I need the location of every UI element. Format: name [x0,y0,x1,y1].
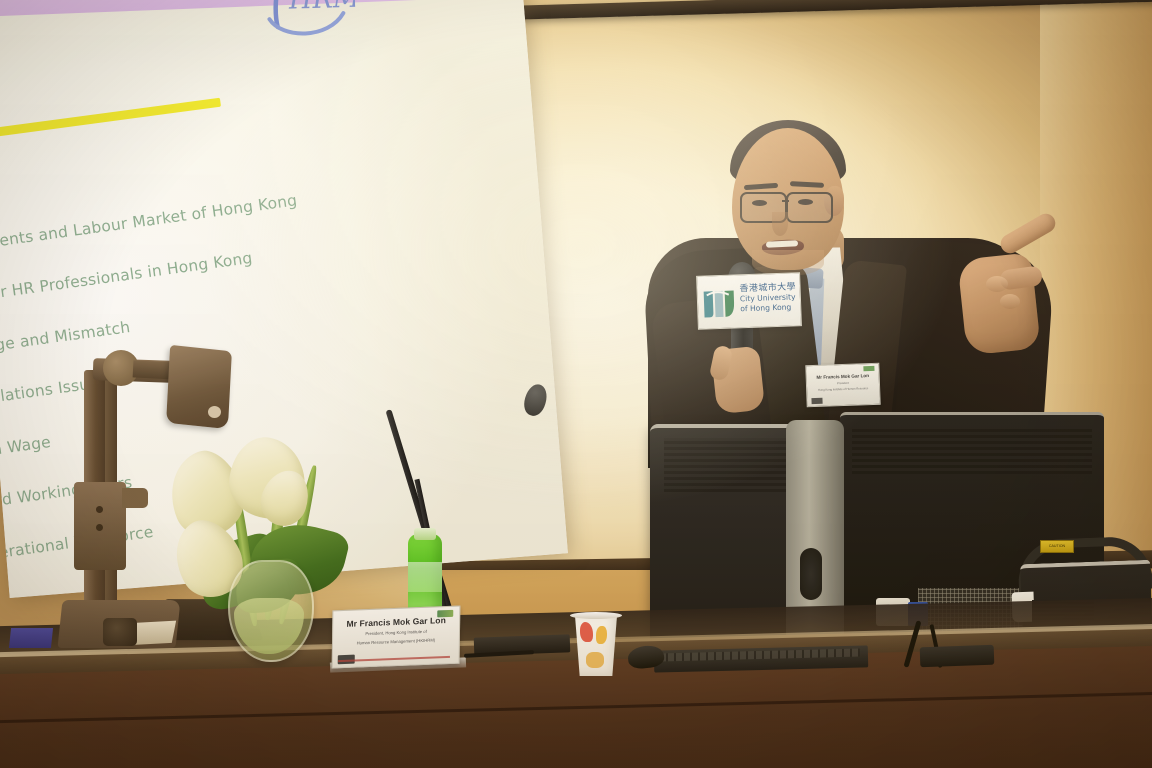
hand-knuckle [986,276,1008,292]
document-camera-screw [96,524,103,531]
document-camera-clamp-hook [122,488,148,508]
svg-text:HRM: HRM [288,0,357,16]
eyeglasses-bridge [782,200,789,202]
document-camera-head [166,345,232,429]
badge-logo-left [811,398,822,404]
hrm-logo: HRM [262,0,356,45]
paper-cup-pattern [586,652,604,668]
badge-role-line2: Hong Kong Institute of Human Resource [807,386,879,393]
document-camera-lens [208,406,221,418]
paper-cup-rim [570,612,622,619]
remote-control [920,645,995,668]
lapel-name-badge: Mr Francis Mok Gar Lon President Hong Ko… [805,363,880,408]
document-camera-screw [96,506,103,513]
eyeglasses-lens-right [786,192,833,223]
monitor-right-vents [852,426,1092,474]
speaker-nose [772,212,788,236]
paper-cup-pattern [596,626,607,644]
document-camera-knob [103,618,137,646]
hand-knuckle [1000,294,1020,309]
blue-box [9,628,53,648]
green-bottle-label [408,562,442,592]
badge-logo-right [863,366,874,371]
monitor-warning-label: CAUTION [1040,540,1074,553]
cityu-name-english-line2: of Hong Kong [740,303,796,315]
name-plate-role-line2: Human Resource Management (HKIHRM) [338,637,454,648]
name-plate-logo-right [437,610,453,618]
conference-photo-scene: HRM …M …velopments and Labour Market of … [0,0,1152,768]
green-bottle-cap [414,528,436,540]
microphone-flag-cityu: 香港城市大學 City University of Hong Kong [696,272,802,330]
cityu-logo [700,282,737,321]
cityu-name-english: City University of Hong Kong [740,292,796,314]
desk-speaker-grille [800,548,822,600]
